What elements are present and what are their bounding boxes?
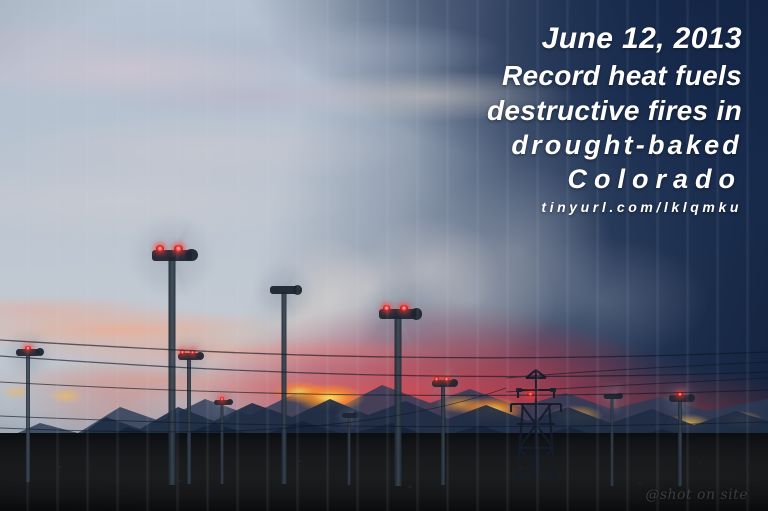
photographer-watermark: @shot on site [645,487,748,503]
vertical-haze-streaks [0,0,768,511]
photo-canvas: June 12, 2013 Record heat fuels destruct… [0,0,768,511]
